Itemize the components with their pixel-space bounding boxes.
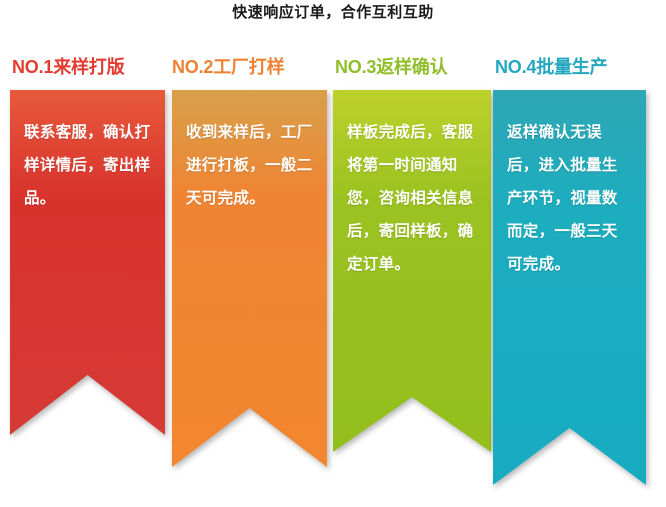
ribbon-banner-2: 收到来样后，工厂进行打板，一般二天可完成。 [172,90,327,467]
step-heading-2: NO.2工厂打样 [172,56,284,78]
step-heading-4: NO.4批量生产 [495,56,607,78]
ribbon-banner-1: 联系客服，确认打样详情后，寄出样品。 [10,90,165,435]
ribbon-text-1: 联系客服，确认打样详情后，寄出样品。 [10,90,165,215]
ribbon-banner-3: 样板完成后，客服将第一时间通知您，咨询相关信息后，寄回样板，确定订单。 [333,90,491,452]
page-title: 快速响应订单，合作互利互助 [0,2,666,24]
ribbon-text-2: 收到来样后，工厂进行打板，一般二天可完成。 [172,90,327,215]
step-heading-3: NO.3返样确认 [335,56,447,78]
ribbon-text-3: 样板完成后，客服将第一时间通知您，咨询相关信息后，寄回样板，确定订单。 [333,90,491,281]
ribbon-banner-4: 返样确认无误后，进入批量生产环节，视量数而定，一般三天可完成。 [493,90,646,485]
ribbon-text-4: 返样确认无误后，进入批量生产环节，视量数而定，一般三天可完成。 [493,90,646,281]
step-heading-1: NO.1来样打版 [12,56,124,78]
infographic-stage: 快速响应订单，合作互利互助 NO.1来样打版 联系客服，确认打样详情后，寄出样品… [0,0,666,507]
